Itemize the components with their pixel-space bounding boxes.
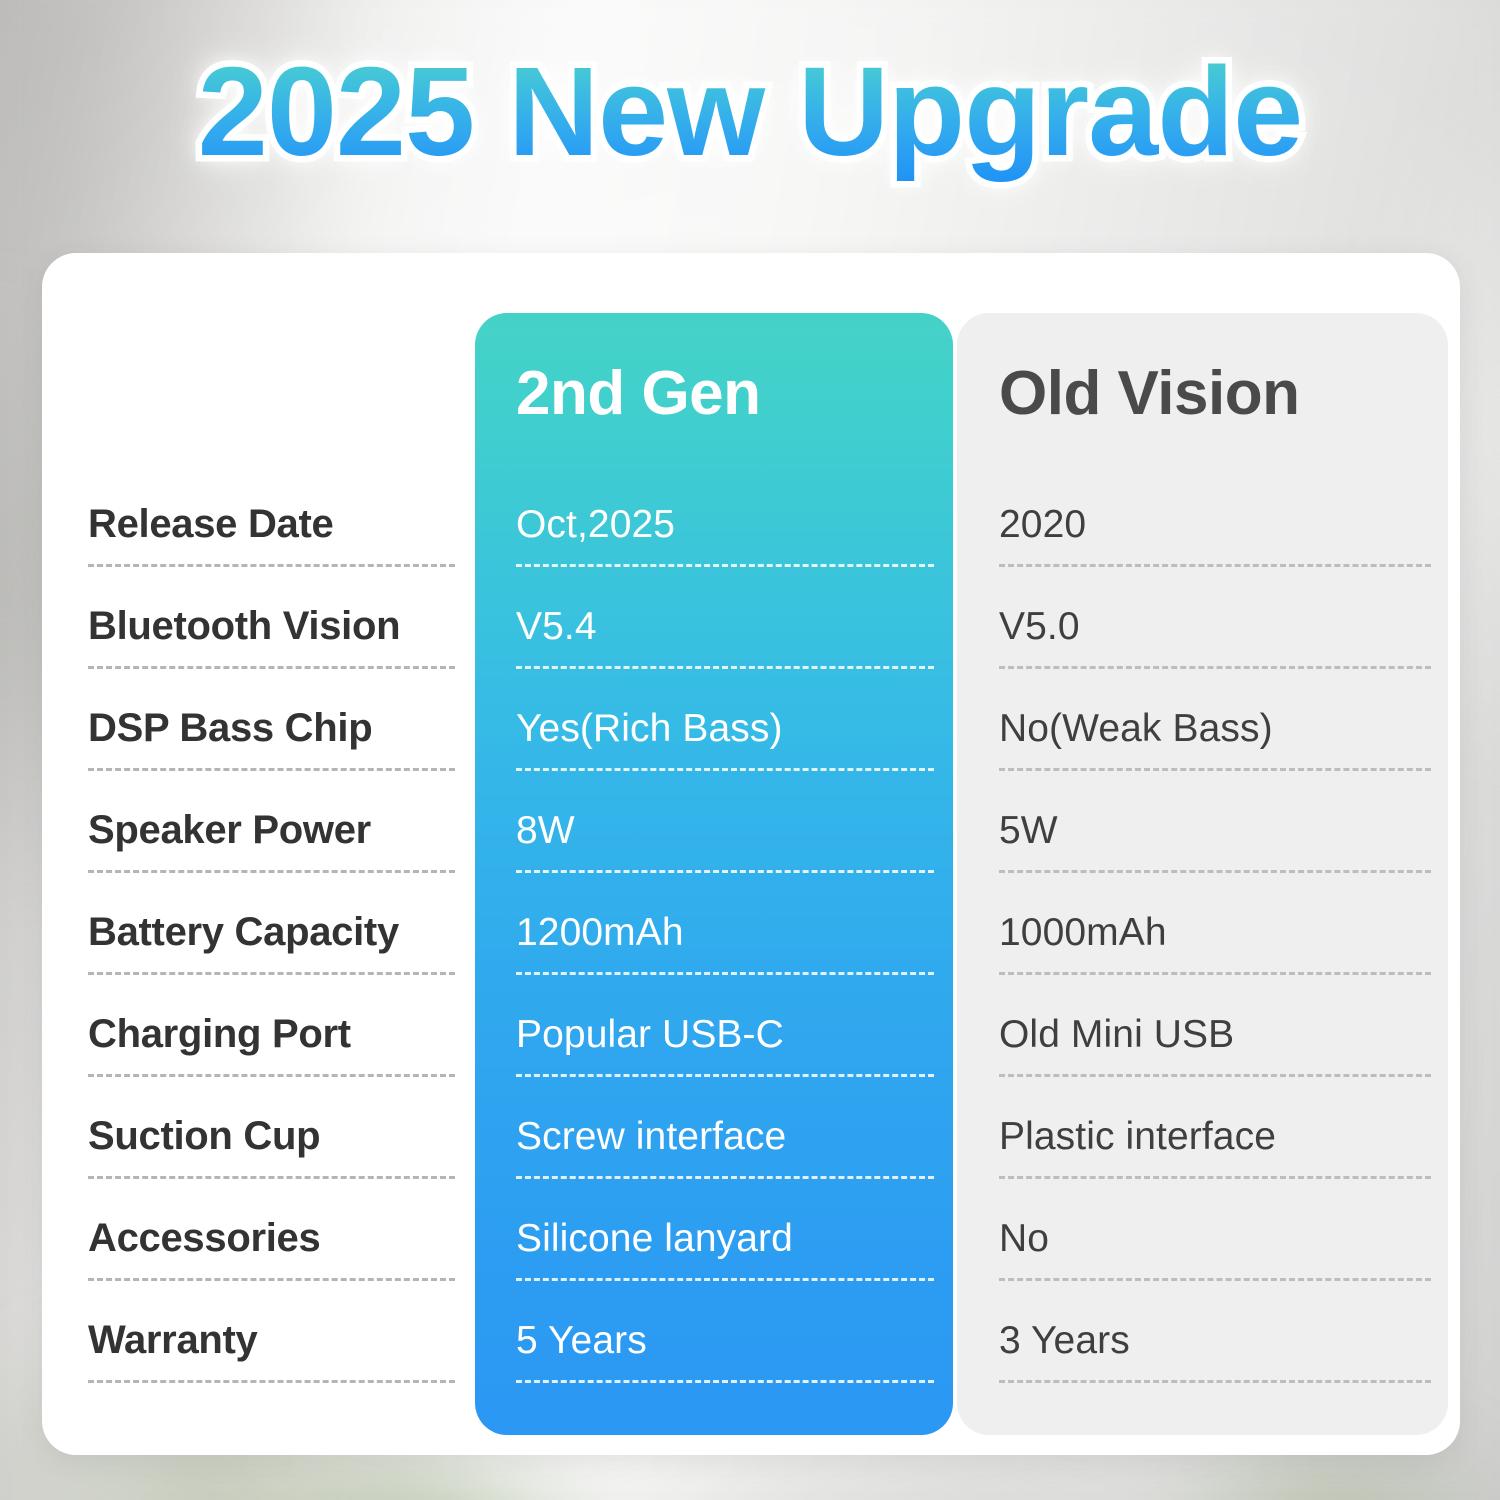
table-cell-feature: Accessories — [88, 1195, 478, 1297]
row-divider — [999, 1380, 1431, 1383]
row-divider — [516, 972, 934, 975]
row-divider — [88, 972, 455, 975]
row-divider — [999, 564, 1431, 567]
table-cell-old: No — [999, 1195, 1454, 1297]
cell-text: V5.0 — [999, 605, 1080, 649]
table-cell-feature: Speaker Power — [88, 787, 478, 889]
cell-text: 5 Years — [516, 1319, 647, 1363]
comparison-card: 2nd Gen Old Vision Release DateOct,20252… — [42, 253, 1460, 1455]
table-row: Speaker Power8W5W — [42, 787, 1460, 889]
title-container: 2025 New Upgrade 2025 New Upgrade — [0, 44, 1500, 180]
cell-text: 8W — [516, 809, 575, 853]
row-divider — [516, 870, 934, 873]
row-divider — [88, 1176, 455, 1179]
cell-text: Silicone lanyard — [516, 1217, 793, 1261]
table-cell-feature: Release Date — [88, 481, 478, 583]
row-divider — [88, 768, 455, 771]
table-row: Battery Capacity1200mAh1000mAh — [42, 889, 1460, 991]
cell-text: No(Weak Bass) — [999, 707, 1273, 751]
cell-text: Oct,2025 — [516, 503, 675, 547]
row-divider — [999, 972, 1431, 975]
cell-text: Battery Capacity — [88, 910, 399, 955]
cell-text: DSP Bass Chip — [88, 706, 372, 751]
table-cell-feature: Bluetooth Vision — [88, 583, 478, 685]
row-divider — [88, 870, 455, 873]
table-row: Suction CupScrew interfacePlastic interf… — [42, 1093, 1460, 1195]
row-divider — [516, 1278, 934, 1281]
row-divider — [516, 1074, 934, 1077]
row-divider — [999, 666, 1431, 669]
table-cell-new: 1200mAh — [516, 889, 956, 991]
cell-text: Popular USB-C — [516, 1013, 784, 1057]
cell-text: Plastic interface — [999, 1115, 1276, 1159]
table-cell-feature: DSP Bass Chip — [88, 685, 478, 787]
row-divider — [516, 1380, 934, 1383]
page-title: 2025 New Upgrade 2025 New Upgrade — [198, 44, 1302, 180]
row-divider — [88, 666, 455, 669]
cell-text: Release Date — [88, 502, 333, 547]
table-cell-new: Screw interface — [516, 1093, 956, 1195]
table-cell-old: 5W — [999, 787, 1454, 889]
table-row: DSP Bass ChipYes(Rich Bass)No(Weak Bass) — [42, 685, 1460, 787]
row-divider — [88, 1278, 455, 1281]
cell-text: V5.4 — [516, 605, 597, 649]
table-cell-new: Oct,2025 — [516, 481, 956, 583]
row-divider — [88, 1380, 455, 1383]
table-cell-new: 8W — [516, 787, 956, 889]
table-cell-new: Popular USB-C — [516, 991, 956, 1093]
cell-text: Bluetooth Vision — [88, 604, 400, 649]
table-cell-old: Old Mini USB — [999, 991, 1454, 1093]
page-title-text: 2025 New Upgrade — [198, 41, 1302, 182]
table-cell-new: 5 Years — [516, 1297, 956, 1399]
row-divider — [999, 768, 1431, 771]
table-cell-feature: Warranty — [88, 1297, 478, 1399]
row-divider — [999, 1176, 1431, 1179]
row-divider — [999, 870, 1431, 873]
table-cell-old: 1000mAh — [999, 889, 1454, 991]
row-divider — [999, 1074, 1431, 1077]
table-row: Charging PortPopular USB-COld Mini USB — [42, 991, 1460, 1093]
row-divider — [516, 564, 934, 567]
cell-text: Yes(Rich Bass) — [516, 707, 783, 751]
cell-text: Accessories — [88, 1216, 320, 1261]
table-cell-old: 3 Years — [999, 1297, 1454, 1399]
cell-text: 2020 — [999, 503, 1086, 547]
cell-text: 5W — [999, 809, 1058, 853]
cell-text: Old Mini USB — [999, 1013, 1234, 1057]
table-cell-old: Plastic interface — [999, 1093, 1454, 1195]
table-row: AccessoriesSilicone lanyardNo — [42, 1195, 1460, 1297]
table-cell-feature: Charging Port — [88, 991, 478, 1093]
cell-text: Screw interface — [516, 1115, 786, 1159]
table-cell-feature: Suction Cup — [88, 1093, 478, 1195]
cell-text: No — [999, 1217, 1049, 1261]
row-divider — [516, 666, 934, 669]
table-cell-old: No(Weak Bass) — [999, 685, 1454, 787]
cell-text: Suction Cup — [88, 1114, 320, 1159]
row-divider — [999, 1278, 1431, 1281]
table-row: Warranty5 Years3 Years — [42, 1297, 1460, 1399]
cell-text: 1200mAh — [516, 911, 684, 955]
table-cell-new: V5.4 — [516, 583, 956, 685]
row-divider — [88, 564, 455, 567]
table-cell-old: 2020 — [999, 481, 1454, 583]
table-cell-new: Yes(Rich Bass) — [516, 685, 956, 787]
cell-text: 1000mAh — [999, 911, 1167, 955]
cell-text: Speaker Power — [88, 808, 371, 853]
table-row: Release DateOct,20252020 — [42, 481, 1460, 583]
table-row: Bluetooth VisionV5.4V5.0 — [42, 583, 1460, 685]
table-cell-old: V5.0 — [999, 583, 1454, 685]
cell-text: Warranty — [88, 1318, 258, 1363]
row-divider — [516, 1176, 934, 1179]
comparison-rows: Release DateOct,20252020Bluetooth Vision… — [42, 253, 1460, 1455]
cell-text: 3 Years — [999, 1319, 1130, 1363]
table-cell-feature: Battery Capacity — [88, 889, 478, 991]
row-divider — [88, 1074, 455, 1077]
table-cell-new: Silicone lanyard — [516, 1195, 956, 1297]
row-divider — [516, 768, 934, 771]
cell-text: Charging Port — [88, 1012, 351, 1057]
